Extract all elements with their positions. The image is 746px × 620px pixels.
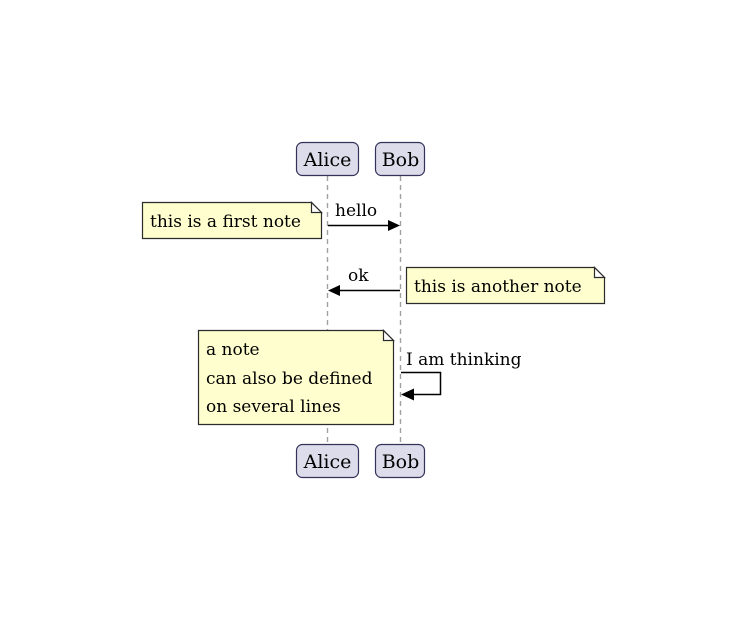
arrowhead-right-icon	[388, 220, 400, 231]
diagram-canvas: Alice Bob this is a first note hello ok	[0, 0, 746, 620]
participant-label-alice-top: Alice	[303, 149, 352, 171]
note-multiline-line-3: on several lines	[206, 397, 341, 417]
note-first-line-1: this is a first note	[150, 212, 301, 232]
note-multiline-line-1: a note	[206, 340, 260, 360]
message-label-hello: hello	[335, 201, 377, 221]
participant-alice-bottom[interactable]: Alice	[297, 445, 359, 478]
note-first-fold-icon	[312, 203, 322, 213]
note-first[interactable]: this is a first note	[143, 203, 322, 239]
participant-label-bob-bottom: Bob	[382, 451, 420, 473]
note-another-fold-icon	[595, 268, 605, 278]
message-label-ok: ok	[348, 266, 369, 286]
message-ok[interactable]: ok	[328, 266, 400, 296]
message-hello[interactable]: hello	[328, 201, 400, 231]
note-multiline-fold-icon	[384, 331, 394, 341]
participant-bob-bottom[interactable]: Bob	[376, 445, 425, 478]
arrowhead-left-self-icon	[401, 389, 414, 401]
participant-bob-top[interactable]: Bob	[376, 143, 425, 176]
message-label-i-am-thinking: I am thinking	[406, 350, 522, 370]
note-multiline[interactable]: a note can also be defined on several li…	[199, 331, 394, 425]
sequence-diagram: Alice Bob this is a first note hello ok	[0, 0, 746, 620]
arrowhead-left-icon	[328, 285, 340, 296]
note-another[interactable]: this is another note	[407, 268, 605, 304]
participant-label-bob-top: Bob	[382, 149, 420, 171]
participant-alice-top[interactable]: Alice	[297, 143, 359, 176]
message-line-self-loop	[401, 373, 441, 395]
note-multiline-line-2: can also be defined	[206, 369, 373, 389]
participant-label-alice-bottom: Alice	[303, 451, 352, 473]
note-another-line-1: this is another note	[414, 277, 582, 297]
message-i-am-thinking[interactable]: I am thinking	[401, 350, 522, 401]
